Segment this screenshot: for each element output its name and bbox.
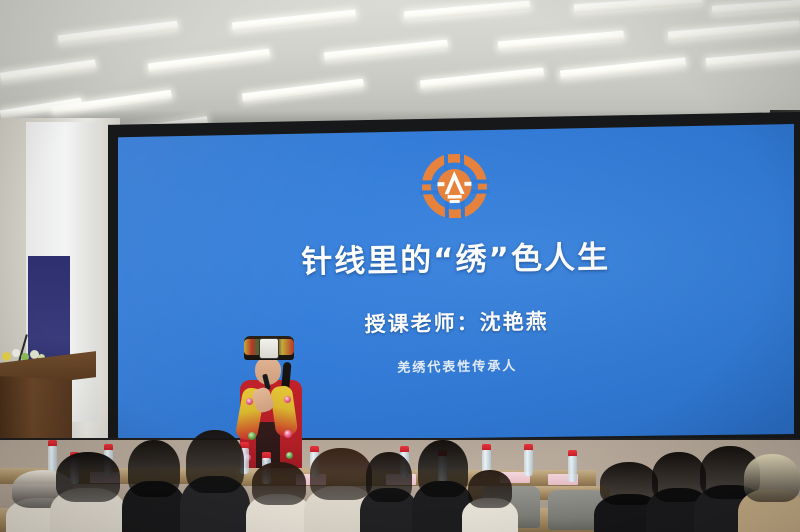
bottle-cap — [524, 444, 533, 450]
embroidered-flower-motif — [246, 398, 253, 405]
audience-member-head — [56, 452, 120, 502]
water-bottle — [48, 446, 57, 472]
slide-title: 针线里的“绣”色人生 — [118, 229, 794, 285]
water-bottle — [524, 450, 533, 476]
flower — [2, 352, 11, 361]
bottle-cap — [262, 452, 271, 458]
slide-presenter-line: 授课老师：沈艳燕 — [118, 302, 794, 343]
ceiling-light-fixture — [148, 49, 270, 73]
bottle-cap — [104, 444, 113, 450]
ceiling-light-fixture — [706, 50, 800, 67]
presenter-headdress-plate — [259, 338, 279, 359]
ceiling-light-fixture — [404, 1, 530, 21]
audience-member-head — [252, 462, 306, 505]
ceiling-light-fixture — [498, 31, 624, 51]
ceiling-light-fixture — [58, 21, 178, 45]
bottle-cap — [482, 444, 491, 450]
ceiling-light-fixture — [712, 0, 800, 15]
ceiling-light-fixture — [232, 10, 356, 32]
qiang-culture-emblem-icon — [419, 153, 490, 218]
ceiling-light-fixture — [668, 20, 800, 40]
lecture-hall-scene: 针线里的“绣”色人生 授课老师：沈艳燕 羌绣代表性传承人 — [0, 0, 800, 532]
bottle-cap — [400, 446, 409, 452]
audience-member-head — [366, 452, 412, 502]
audience-member-head — [744, 454, 800, 502]
bottle-cap — [310, 446, 319, 452]
audience-member-head — [418, 440, 468, 497]
bottle-cap — [48, 440, 57, 446]
slide-credential-line: 羌绣代表性传承人 — [119, 351, 794, 381]
ceiling-light-fixture — [0, 59, 96, 81]
audience-member-head — [128, 440, 180, 497]
slide: 针线里的“绣”色人生 授课老师：沈艳燕 羌绣代表性传承人 — [118, 124, 794, 442]
embroidered-flower-motif — [284, 396, 291, 403]
audience-member-head — [652, 452, 706, 502]
water-bottle — [568, 456, 577, 482]
bottle-cap — [568, 450, 577, 456]
ceiling-light-fixture — [242, 79, 364, 103]
ceiling-light-fixture — [560, 57, 686, 79]
flower — [12, 349, 20, 357]
audience-member-head — [310, 448, 372, 500]
embroidered-flower-motif — [286, 452, 293, 459]
audience-member-head — [186, 430, 244, 493]
embroidered-flower-motif — [284, 430, 292, 438]
audience-member-head — [468, 470, 512, 508]
projection-screen: 针线里的“绣”色人生 授课老师：沈艳燕 羌绣代表性传承人 — [118, 124, 794, 442]
ceiling-light-fixture — [420, 68, 544, 90]
ceiling-light-fixture — [324, 40, 448, 62]
embroidered-flower-motif — [248, 432, 256, 440]
ceiling-light-fixture — [574, 0, 702, 13]
